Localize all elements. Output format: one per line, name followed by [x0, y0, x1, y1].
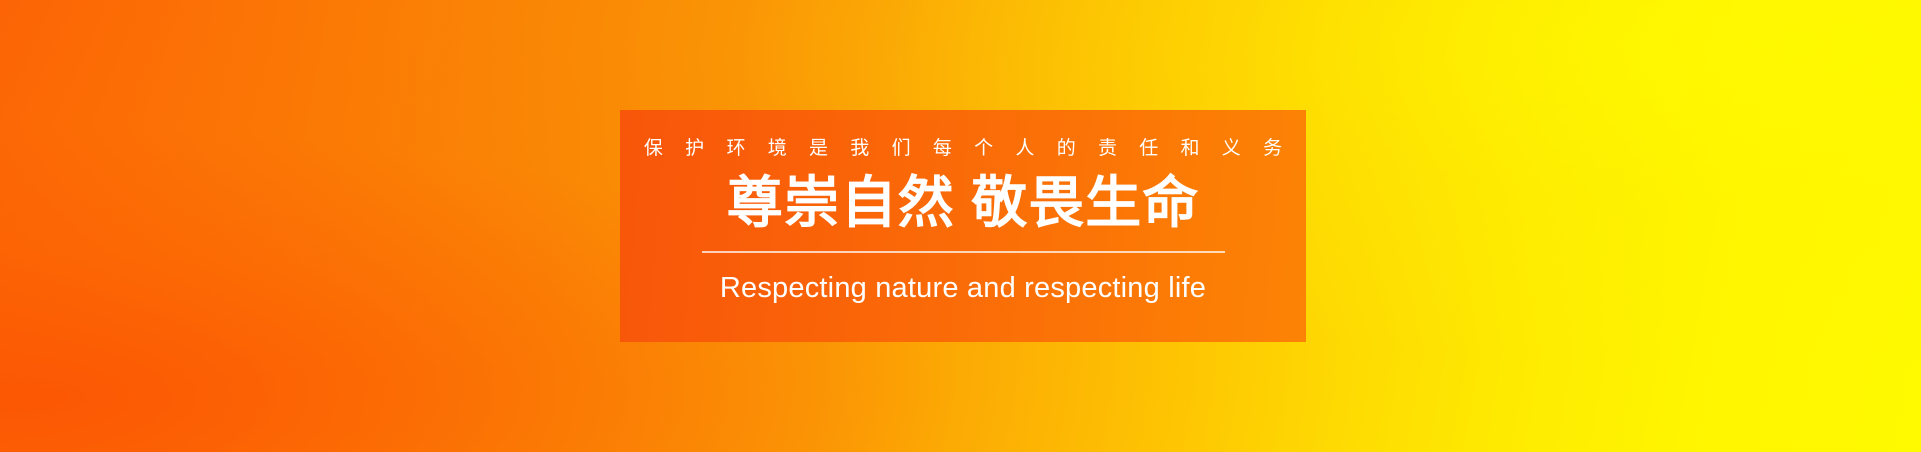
panel-eyebrow-text: 保 护 环 境 是 我 们 每 个 人 的 责 任 和 义 务 [635, 139, 1290, 158]
panel-headline: 尊崇自然 敬畏生命 [727, 175, 1200, 231]
panel-subtitle-english: Respecting nature and respecting life [720, 274, 1206, 303]
message-panel: 保 护 环 境 是 我 们 每 个 人 的 责 任 和 义 务 尊崇自然 敬畏生… [620, 110, 1306, 342]
panel-divider [702, 251, 1225, 253]
environmental-banner: 保 护 环 境 是 我 们 每 个 人 的 责 任 和 义 务 尊崇自然 敬畏生… [0, 0, 1921, 452]
